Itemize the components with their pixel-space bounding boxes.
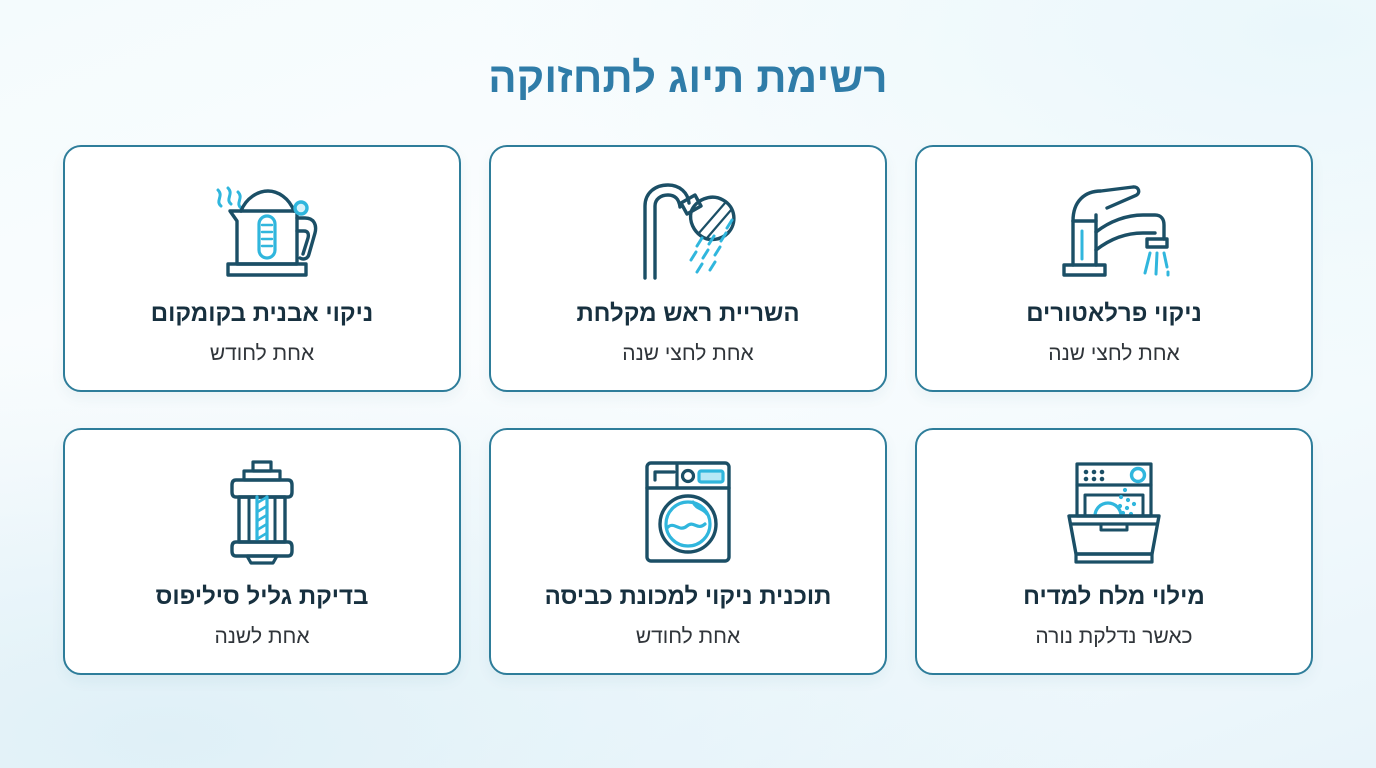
- card-title: תוכנית ניקוי למכונת כביסה: [545, 582, 832, 612]
- dishwasher-icon: [1064, 456, 1164, 568]
- card-frequency: אחת לחודש: [210, 340, 314, 367]
- card-title: ניקוי אבנית בקומקום: [151, 299, 373, 329]
- card-frequency: אחת לחצי שנה: [1048, 340, 1179, 367]
- checklist-card-faucet-aerators[interactable]: ניקוי פרלאטורים אחת לחצי שנה: [915, 145, 1313, 392]
- card-title: בדיקת גליל סיליפוס: [156, 582, 369, 612]
- washing-machine-icon: [641, 456, 735, 568]
- checklist-card-kettle-descaling[interactable]: ניקוי אבנית בקומקום אחת לחודש: [63, 145, 461, 392]
- checklist-card-silifos-cartridge[interactable]: בדיקת גליל סיליפוס אחת לשנה: [63, 428, 461, 675]
- card-frequency: אחת לחצי שנה: [622, 340, 753, 367]
- card-frequency: אחת לחודש: [636, 623, 740, 650]
- card-title: השריית ראש מקלחת: [576, 299, 799, 329]
- card-frequency: כאשר נדלקת נורה: [1035, 623, 1192, 650]
- card-title: מילוי מלח למדיח: [1023, 582, 1205, 612]
- checklist-card-shower-head[interactable]: השריית ראש מקלחת אחת לחצי שנה: [489, 145, 887, 392]
- page-title: רשימת תיוג לתחזוקה: [488, 54, 888, 102]
- card-frequency: אחת לשנה: [214, 623, 309, 650]
- checklist-card-washing-machine[interactable]: תוכנית ניקוי למכונת כביסה אחת לחודש: [489, 428, 887, 675]
- checklist-card-dishwasher-salt[interactable]: מילוי מלח למדיח כאשר נדלקת נורה: [915, 428, 1313, 675]
- shower-head-icon: [633, 173, 743, 285]
- water-filter-cartridge-icon: [214, 456, 310, 568]
- maintenance-checklist-board: רשימת תיוג לתחזוקה: [0, 0, 1376, 768]
- kettle-icon: [204, 173, 320, 285]
- card-title: ניקוי פרלאטורים: [1026, 299, 1202, 329]
- checklist-card-grid: ניקוי פרלאטורים אחת לחצי שנה: [63, 145, 1313, 675]
- faucet-icon: [1055, 173, 1173, 285]
